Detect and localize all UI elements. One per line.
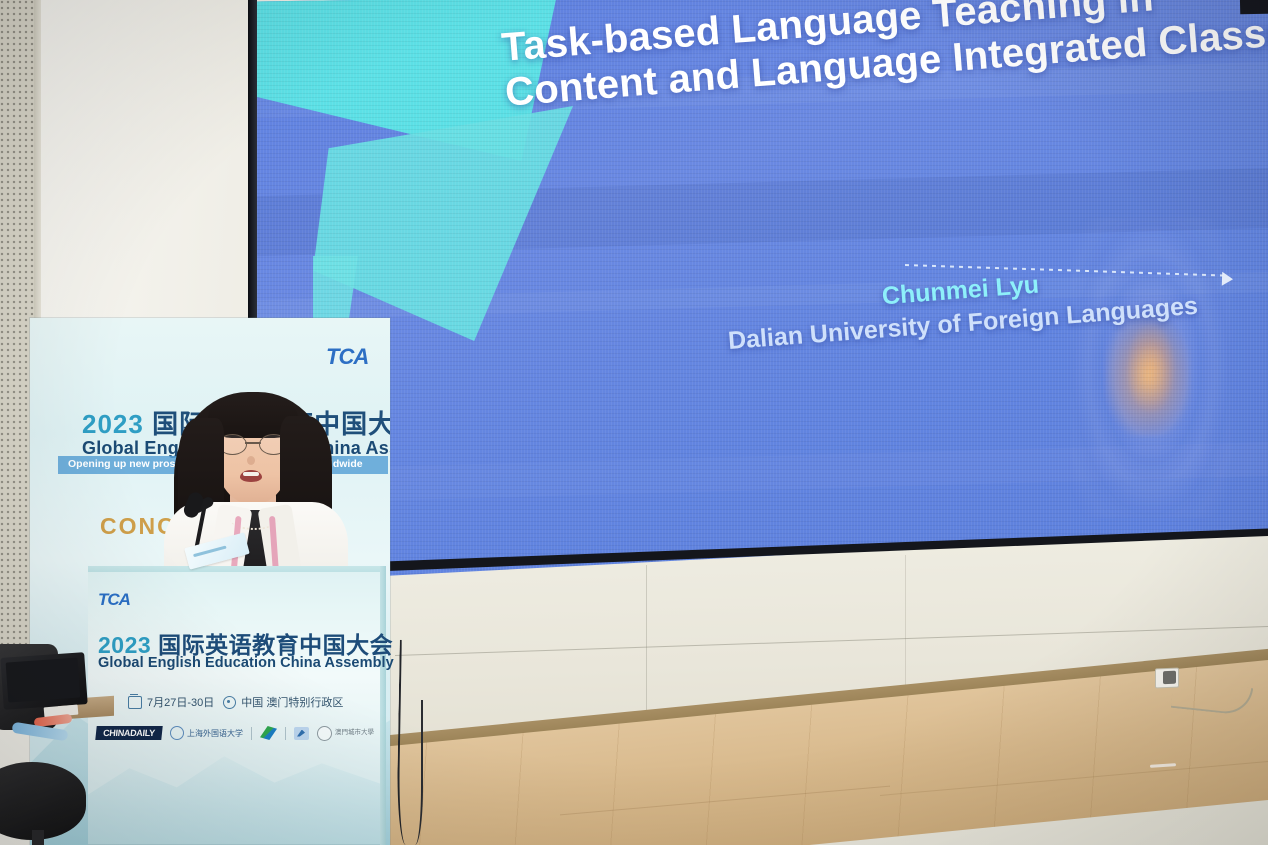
backdrop-year: 2023 — [82, 409, 144, 439]
arrow-right-icon — [1222, 272, 1233, 286]
sponsor-logo-chinadaily: CHINADAILY — [95, 726, 162, 740]
desk-monitor — [0, 652, 87, 710]
sponsor-divider — [285, 727, 286, 740]
sponsor-logo-sisu-label: 上海外国语大学 — [187, 728, 243, 739]
podium-right-edge — [380, 566, 386, 845]
podium-title-en: Global English Education China Assembly — [98, 655, 394, 671]
sponsor-logo-macau: 澳門城市大學 — [317, 726, 374, 741]
speaker-mouth — [240, 470, 262, 482]
macau-seal-icon — [317, 726, 332, 741]
sponsor-divider — [251, 727, 252, 740]
chair-post — [32, 830, 44, 845]
chair-seat — [0, 762, 86, 840]
sponsor-logo-green — [260, 726, 277, 740]
location-pin-icon — [223, 696, 236, 709]
podium-location-group: 中国 澳门特别行政区 — [223, 694, 343, 710]
podium-tca-logo: TCA — [98, 590, 130, 610]
wall-seam — [905, 555, 906, 705]
podium-location-text: 中国 澳门特别行政区 — [241, 694, 343, 710]
speaker-nose — [247, 456, 255, 465]
camera-flare-core — [1106, 316, 1190, 436]
presentation-photo-scene: Task-based Language Teaching in Content … — [0, 0, 1268, 845]
podium-cable-loop — [403, 700, 423, 845]
backdrop-tca-logo: TCA — [326, 344, 368, 370]
sisu-seal-icon — [170, 726, 184, 740]
sponsor-logo-blue — [294, 727, 309, 740]
sponsor-logo-macau-label: 澳門城市大學 — [335, 729, 374, 736]
podium-sponsor-row: CHINADAILY 上海外国语大学 澳門城市大學 — [96, 722, 376, 744]
calendar-icon — [128, 696, 142, 709]
glasses-icon — [218, 434, 288, 454]
acoustic-wall-panel — [0, 0, 34, 660]
podium-date-text: 7月27日-30日 — [147, 694, 214, 710]
podium-date-group: 7月27日-30日 — [128, 694, 214, 710]
podium-event-meta: 7月27日-30日 中国 澳门特别行政区 — [128, 694, 343, 710]
sponsor-logo-sisu: 上海外国语大学 — [170, 726, 243, 740]
